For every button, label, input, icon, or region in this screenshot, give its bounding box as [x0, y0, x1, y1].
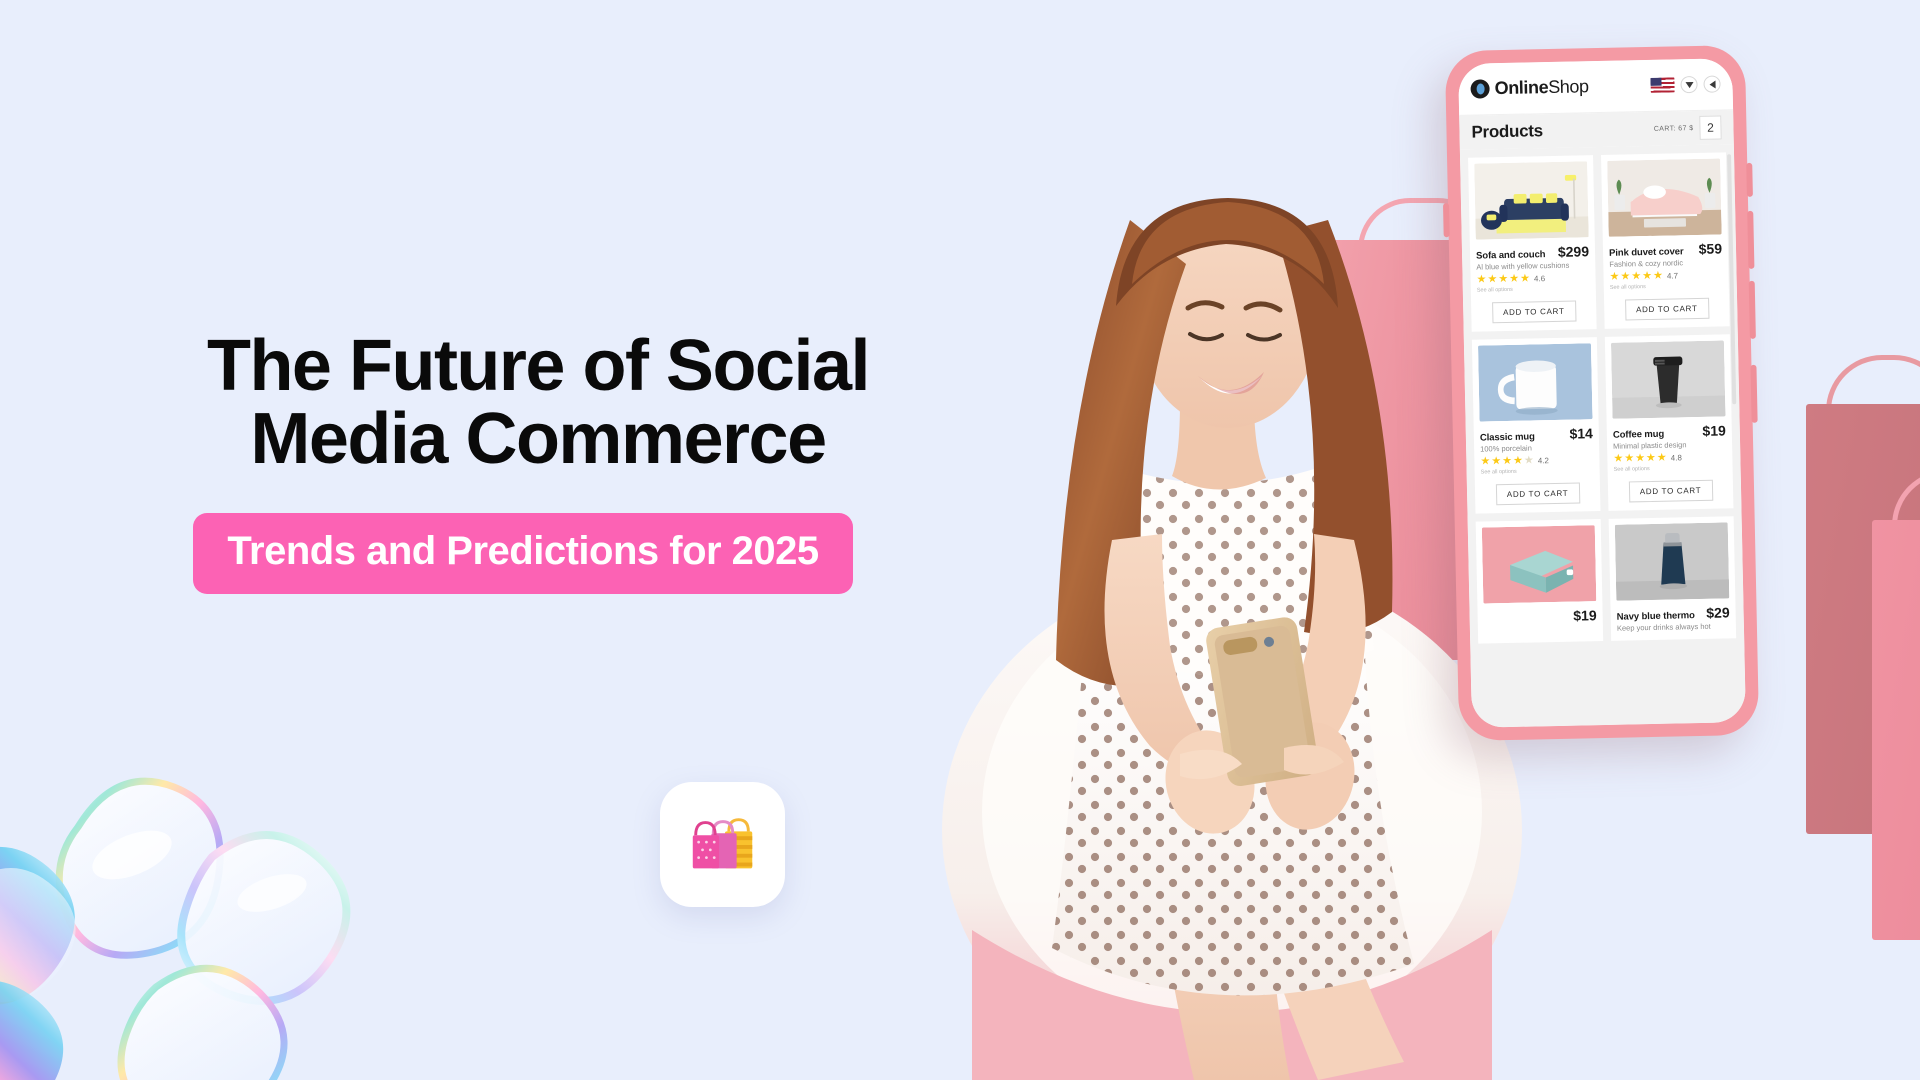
app-logo[interactable]: OnlineShop — [1470, 76, 1588, 99]
product-price: $59 — [1698, 240, 1722, 256]
product-card[interactable]: $19 — [1476, 519, 1604, 644]
add-to-cart-button[interactable]: ADD TO CART — [1625, 298, 1709, 321]
app-header: OnlineShop — [1458, 58, 1733, 116]
product-image — [1607, 158, 1722, 236]
cart-count-badge[interactable]: 2 — [1699, 115, 1721, 139]
product-card[interactable]: Sofa and couch$299Al blue with yellow cu… — [1468, 155, 1597, 332]
product-image — [1478, 343, 1593, 421]
shopping-bag-front-right — [1872, 520, 1920, 940]
product-description: Keep your drinks always hot — [1617, 621, 1730, 632]
star-icon: ★ — [1642, 271, 1652, 282]
product-rating: ★★★★★4.2 — [1480, 454, 1593, 467]
star-icon: ★ — [1613, 454, 1623, 465]
star-icon: ★ — [1480, 456, 1490, 467]
star-icon: ★ — [1620, 271, 1630, 282]
product-rating: ★★★★★4.8 — [1613, 451, 1726, 464]
holographic-glass-blob — [0, 735, 420, 1080]
product-card[interactable]: Pink duvet cover$59Fashion & cozy nordic… — [1601, 152, 1730, 329]
subtitle-badge: Trends and Predictions for 2025 — [193, 513, 852, 594]
product-description: Al blue with yellow cushions — [1476, 260, 1589, 271]
product-image — [1482, 525, 1597, 603]
back-arrow-icon[interactable] — [1703, 75, 1720, 92]
phone-screen: OnlineShop Products CART: 67 $ 2 Sofa — [1458, 58, 1746, 728]
add-to-cart-button[interactable]: ADD TO CART — [1495, 482, 1579, 505]
products-subbar: Products CART: 67 $ 2 — [1459, 110, 1734, 150]
star-icon: ★ — [1646, 453, 1656, 464]
star-icon: ★ — [1524, 455, 1534, 466]
rating-value: 4.8 — [1671, 453, 1682, 462]
rating-value: 4.2 — [1538, 456, 1549, 465]
products-heading: Products — [1471, 121, 1543, 142]
logo-mark-icon — [1470, 79, 1489, 98]
star-icon: ★ — [1631, 271, 1641, 282]
page-title: The Future of Social Media Commerce — [128, 330, 948, 477]
phone-volume-down-button[interactable] — [1749, 281, 1756, 339]
product-image — [1474, 161, 1589, 239]
product-price: $19 — [1702, 422, 1726, 438]
product-grid: Sofa and couch$299Al blue with yellow cu… — [1460, 144, 1746, 728]
product-name: Navy blue thermo — [1617, 610, 1695, 623]
product-description: Fashion & cozy nordic — [1609, 257, 1722, 268]
star-icon: ★ — [1502, 456, 1512, 467]
star-icon: ★ — [1520, 273, 1530, 284]
product-price: $29 — [1706, 604, 1730, 620]
shopping-app-icon[interactable] — [660, 782, 785, 907]
star-icon: ★ — [1491, 456, 1501, 467]
product-name: Coffee mug — [1613, 429, 1664, 441]
product-description: Minimal plastic design — [1613, 439, 1726, 450]
star-icon: ★ — [1498, 274, 1508, 285]
star-icon: ★ — [1624, 453, 1634, 464]
add-to-cart-button[interactable]: ADD TO CART — [1492, 301, 1576, 324]
product-price: $14 — [1569, 425, 1593, 441]
product-image — [1611, 340, 1726, 418]
product-rating: ★★★★★4.7 — [1609, 269, 1722, 282]
add-to-cart-button[interactable]: ADD TO CART — [1628, 480, 1712, 503]
star-icon: ★ — [1653, 271, 1663, 282]
hero-text-block: The Future of Social Media Commerce Tren… — [128, 330, 948, 594]
rating-value: 4.6 — [1534, 274, 1545, 283]
see-all-options-link[interactable]: See all options — [1481, 467, 1594, 475]
product-card[interactable]: Coffee mug$19Minimal plastic design★★★★★… — [1605, 334, 1734, 511]
phone-side-button[interactable] — [1443, 203, 1450, 237]
star-icon: ★ — [1476, 274, 1486, 285]
product-card[interactable]: Classic mug$14100% porcelain★★★★★4.2See … — [1472, 337, 1601, 514]
product-name: Classic mug — [1480, 431, 1535, 443]
product-description: 100% porcelain — [1480, 442, 1593, 453]
phone-side-button[interactable] — [1746, 163, 1753, 197]
see-all-options-link[interactable]: See all options — [1614, 464, 1727, 472]
cart-total: CART: 67 $ — [1654, 125, 1694, 133]
chevron-down-icon[interactable] — [1680, 76, 1697, 93]
us-flag-icon[interactable] — [1650, 77, 1674, 92]
see-all-options-link[interactable]: See all options — [1477, 285, 1590, 293]
product-image — [1615, 522, 1730, 600]
product-price: $299 — [1558, 243, 1589, 260]
product-name: Sofa and couch — [1476, 249, 1546, 261]
rating-value: 4.7 — [1667, 271, 1678, 280]
star-icon: ★ — [1657, 453, 1667, 464]
logo-text-bold: Online — [1494, 77, 1548, 98]
phone-mockup: OnlineShop Products CART: 67 $ 2 Sofa — [1445, 45, 1759, 741]
logo-text-light: Shop — [1548, 76, 1589, 97]
hero-banner: The Future of Social Media Commerce Tren… — [0, 0, 1920, 1080]
phone-volume-up-button[interactable] — [1747, 211, 1754, 269]
shopping-bags-icon — [684, 806, 762, 884]
product-card[interactable]: Navy blue thermo$29Keep your drinks alwa… — [1609, 516, 1737, 641]
star-icon: ★ — [1609, 272, 1619, 283]
product-rating: ★★★★★4.6 — [1476, 272, 1589, 285]
star-icon: ★ — [1487, 274, 1497, 285]
shopping-bag-handle — [1826, 355, 1920, 411]
phone-power-button[interactable] — [1750, 365, 1757, 423]
product-name: Pink duvet cover — [1609, 246, 1684, 259]
star-icon: ★ — [1509, 274, 1519, 285]
see-all-options-link[interactable]: See all options — [1610, 282, 1723, 290]
star-icon: ★ — [1635, 453, 1645, 464]
product-price: $19 — [1573, 607, 1597, 623]
star-icon: ★ — [1513, 456, 1523, 467]
